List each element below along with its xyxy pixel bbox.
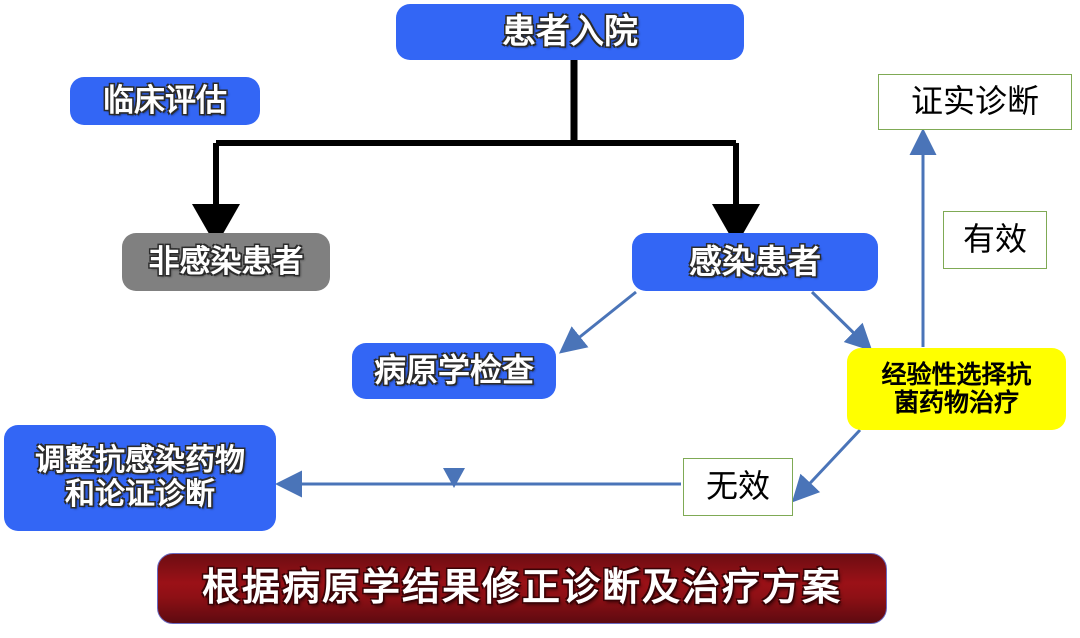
node-patient-admission[interactable]: 患者入院 — [396, 4, 744, 60]
node-clinical-evaluation[interactable]: 临床评估 — [70, 77, 260, 125]
edge-infected-to-empiric-abx — [812, 292, 866, 345]
node-effective-label[interactable]: 有效 — [943, 211, 1047, 269]
node-confirmed-diagnosis[interactable]: 证实诊断 — [878, 74, 1072, 130]
edge-infected-to-pathogen-test — [566, 292, 636, 348]
node-non-infected-patient[interactable]: 非感染患者 — [122, 233, 330, 291]
node-pathogen-examination[interactable]: 病原学检查 — [352, 343, 556, 399]
edge-pathogen-test-down — [443, 399, 465, 488]
flowchart-canvas: 患者入院 临床评估 证实诊断 非感染患者 感染患者 有效 病原学检查 经验性选择… — [0, 0, 1080, 638]
node-infected-patient[interactable]: 感染患者 — [632, 233, 878, 291]
node-empiric-antibiotic-therapy[interactable]: 经验性选择抗 菌药物治疗 — [847, 348, 1066, 430]
edge-admission-split — [216, 60, 736, 222]
node-revise-diagnosis-banner[interactable]: 根据病原学结果修正诊断及治疗方案 — [157, 553, 887, 624]
edge-empiric-to-ineffective — [798, 430, 860, 496]
node-ineffective-label[interactable]: 无效 — [683, 458, 793, 516]
node-adjust-anti-infective-therapy[interactable]: 调整抗感染药物 和论证诊断 — [4, 425, 276, 531]
